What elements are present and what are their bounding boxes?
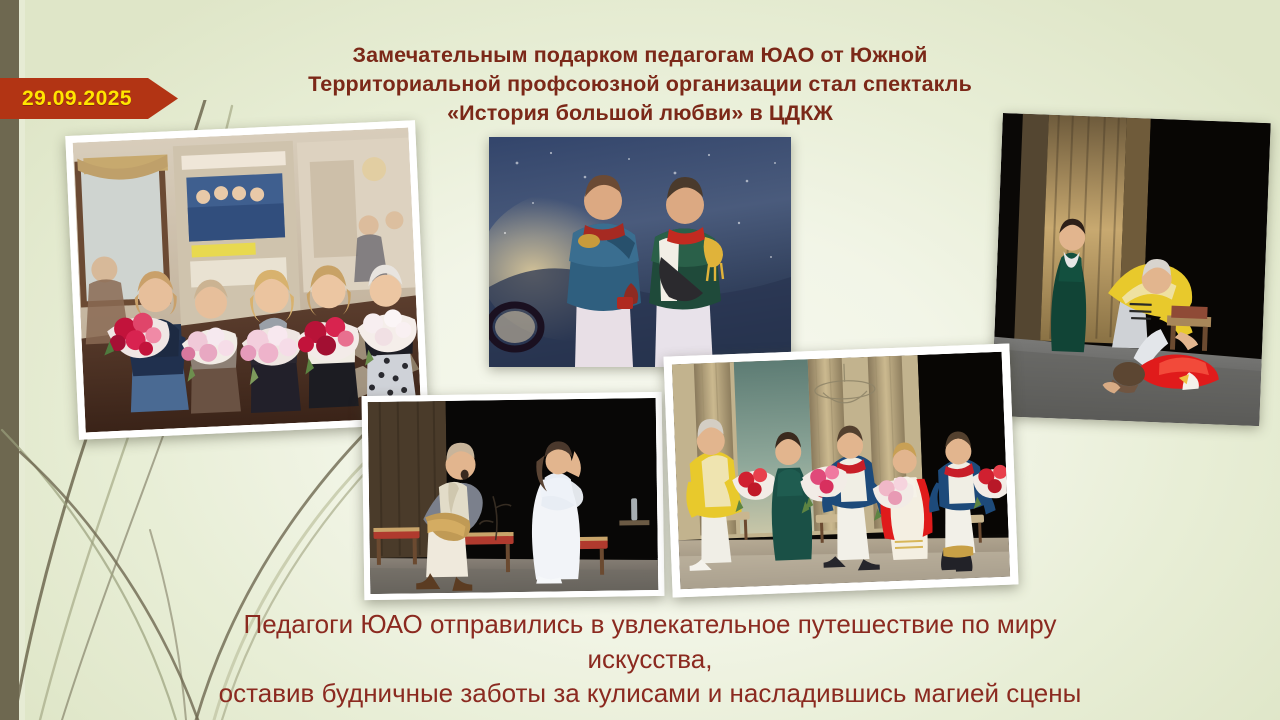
photo-death-inner xyxy=(991,113,1270,426)
photo-stage-dramatic-scene xyxy=(991,113,1270,426)
photo-bride-artwork xyxy=(368,398,659,594)
photo-duel-inner xyxy=(489,137,791,367)
photo-curtain-call xyxy=(664,343,1019,597)
title-line-3: «История большой любви» в ЦДКЖ xyxy=(228,99,1052,128)
caption-line-2: оставив будничные заботы за кулисами и н… xyxy=(200,676,1100,711)
photo-bows-artwork xyxy=(672,352,1010,590)
slide-caption: Педагоги ЮАО отправились в увлекательное… xyxy=(200,607,1100,720)
title-line-2: Территориальной профсоюзной организации … xyxy=(228,70,1052,99)
caption-line-1: Педагоги ЮАО отправились в увлекательное… xyxy=(200,607,1100,676)
photo-theatre-lobby-group xyxy=(65,120,428,440)
photo-lobby-inner xyxy=(73,128,422,433)
caption-line-3: и талантом артистов xyxy=(200,711,1100,720)
photo-bows-inner xyxy=(672,352,1010,590)
photo-lobby-artwork xyxy=(73,128,422,433)
page-title: Замечательным подарком педагогам ЮАО от … xyxy=(228,41,1052,129)
photo-duel-artwork xyxy=(489,137,791,367)
date-badge: 29.09.2025 xyxy=(0,78,178,119)
photo-death-artwork xyxy=(991,113,1270,426)
title-line-1: Замечательным подарком педагогам ЮАО от … xyxy=(228,41,1052,70)
photo-stage-man-and-bride xyxy=(362,392,665,600)
photo-bride-inner xyxy=(368,398,659,594)
slide-canvas: 29.09.2025 Замечательным подарком педаго… xyxy=(0,0,1280,720)
date-badge-label: 29.09.2025 xyxy=(0,88,132,109)
photo-stage-two-officers xyxy=(489,137,791,367)
